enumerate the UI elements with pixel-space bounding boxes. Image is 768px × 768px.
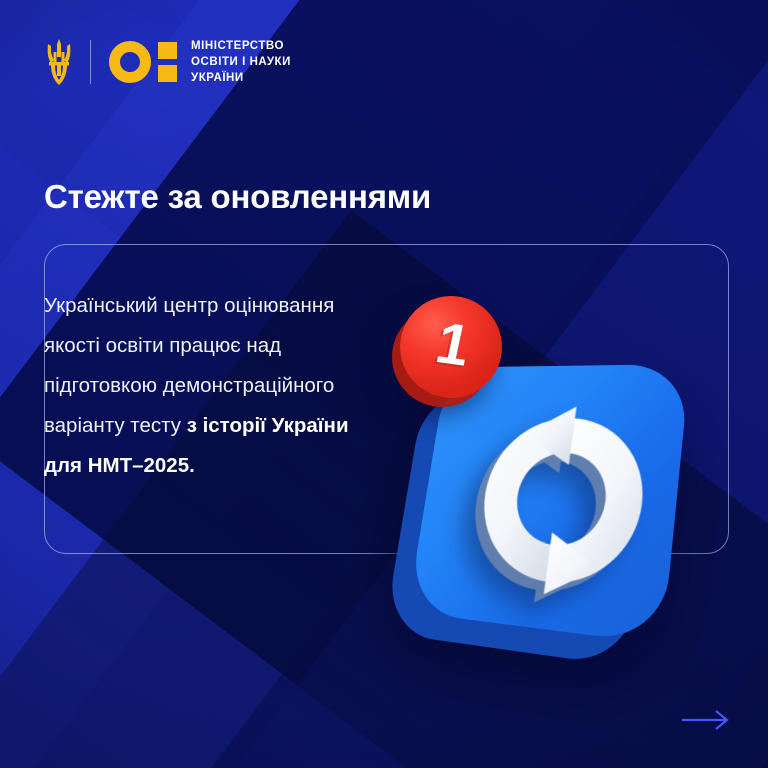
notification-badge-count: 1 [431, 314, 475, 375]
ministry-line-1: МІНІСТЕРСТВО [191, 38, 291, 54]
page-title: Стежте за оновленнями [44, 178, 431, 216]
notification-badge: 1 [400, 296, 502, 398]
ukraine-trident-icon [44, 37, 74, 87]
ministry-line-3: УКРАЇНИ [191, 70, 291, 86]
logo-squares-shape [158, 42, 177, 82]
refresh-arrows-icon [454, 400, 672, 613]
logo-divider [90, 40, 91, 84]
logo-ring-shape [109, 41, 151, 83]
slide-canvas: МІНІСТЕРСТВО ОСВІТИ І НАУКИ УКРАЇНИ Стеж… [0, 0, 768, 768]
arrow-right-icon[interactable] [680, 708, 732, 732]
mon-o-colon-logo-icon [109, 41, 177, 83]
logo-square-top [158, 42, 177, 59]
refresh-update-app-icon: 1 [366, 288, 726, 698]
logo-square-bottom [158, 65, 177, 82]
content-card-text: Український центр оцінювання якості осві… [44, 286, 374, 486]
ministry-line-2: ОСВІТИ І НАУКИ [191, 54, 291, 70]
ministry-logo-lockup: МІНІСТЕРСТВО ОСВІТИ І НАУКИ УКРАЇНИ [44, 30, 291, 94]
ministry-name: МІНІСТЕРСТВО ОСВІТИ І НАУКИ УКРАЇНИ [191, 38, 291, 87]
